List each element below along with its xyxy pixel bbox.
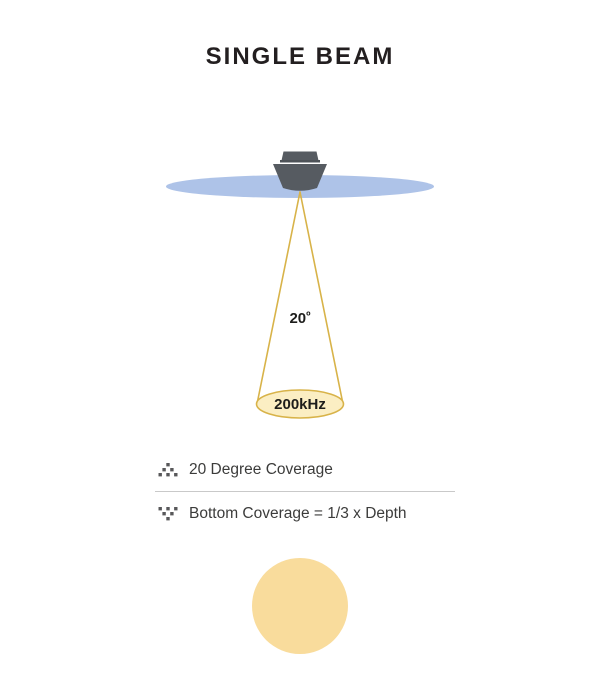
diagram-canvas: SINGLE BEAM 20º 200kHz [0,0,600,700]
water-surface-ellipse [166,175,434,198]
beam-frequency-label: 200kHz [0,396,600,414]
legend-row-coverage: 20 Degree Coverage [155,448,455,491]
legend-row-bottom-coverage: Bottom Coverage = 1/3 x Depth [155,492,455,535]
coverage-footprint-circle [252,558,348,654]
legend: 20 Degree Coverage Bottom Coverage = 1/3… [155,448,455,535]
beam-edge-left [257,192,300,404]
dots-triangle-down-icon [155,504,181,524]
degree-symbol: º [306,309,310,323]
page-title: SINGLE BEAM [0,42,600,72]
legend-label-coverage: 20 Degree Coverage [189,460,333,480]
beam-cone-fill [257,192,344,404]
legend-label-bottom-coverage: Bottom Coverage = 1/3 x Depth [189,504,407,524]
dots-triangle-up-icon [155,460,181,480]
beam-angle-label: 20º [0,307,600,328]
boat-hull [273,164,327,191]
boat-cabin-base [280,160,320,163]
beam-edge-right [300,192,343,404]
beam-angle-value: 20 [289,310,306,327]
boat-cabin [282,152,319,161]
